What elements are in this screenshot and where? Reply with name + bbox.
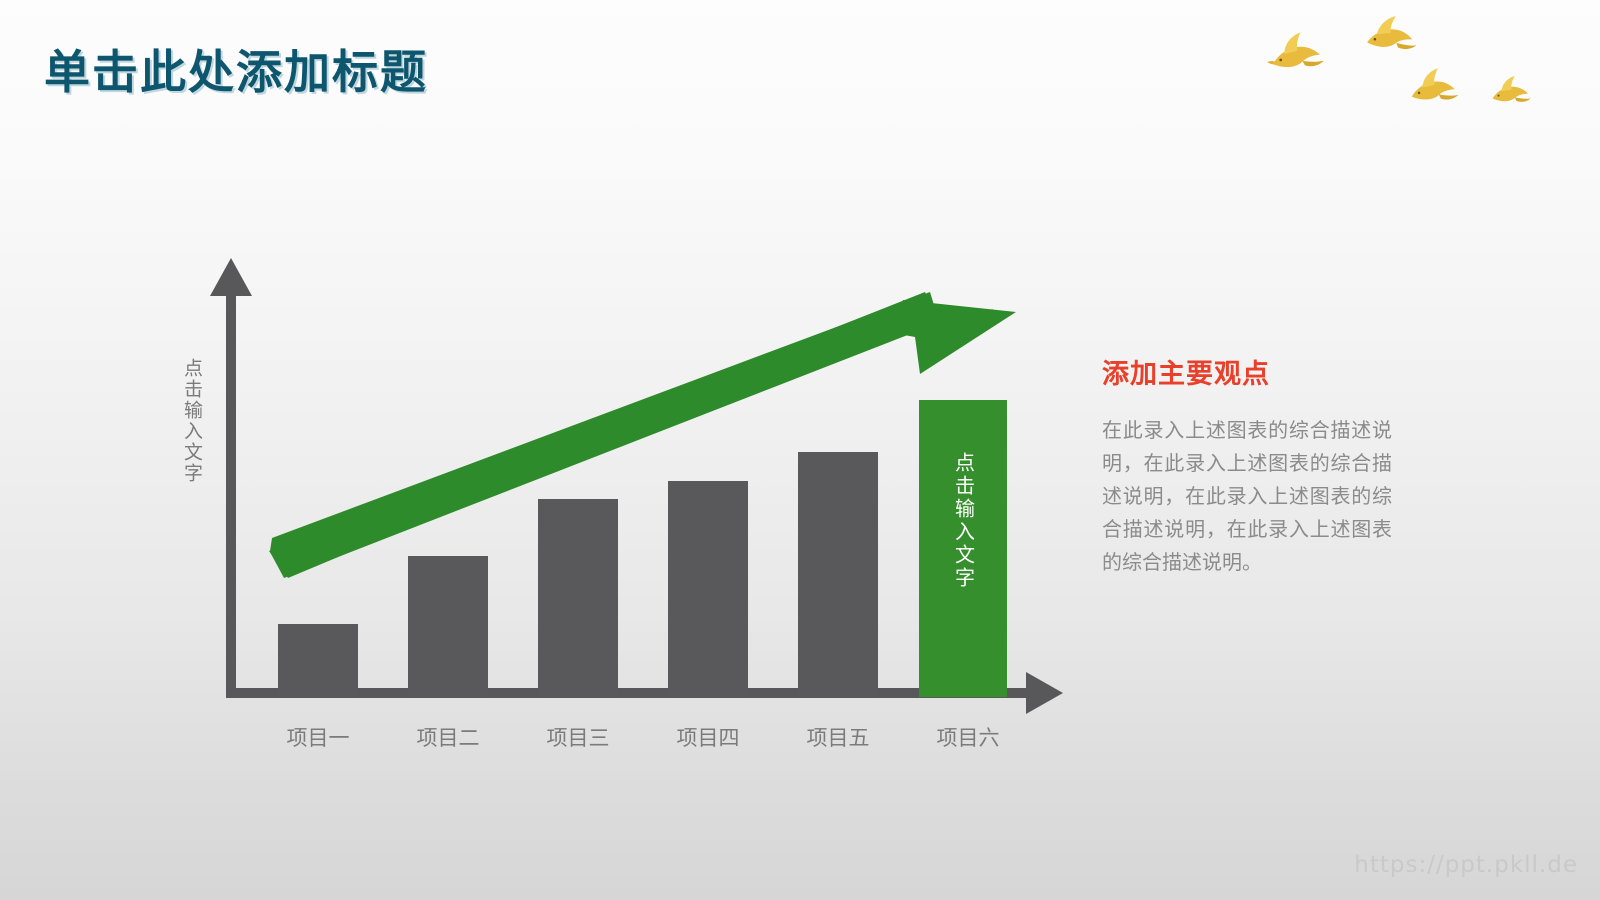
category-label-6: 项目六: [918, 722, 1018, 752]
category-label-2: 项目二: [398, 722, 498, 752]
bar-item-4[interactable]: [668, 481, 748, 697]
bar-item-2[interactable]: [408, 556, 488, 697]
slide-canvas: 单击此处添加标题: [0, 0, 1600, 900]
bird-icon-1: [1266, 30, 1328, 78]
panel-heading: 添加主要观点: [1102, 352, 1392, 391]
panel-body-text: 在此录入上述图表的综合描述说明，在此录入上述图表的综合描述说明，在此录入上述图表…: [1102, 415, 1392, 580]
category-label-4: 项目四: [658, 722, 758, 752]
bird-icon-2: [1362, 14, 1420, 60]
category-label-3: 项目三: [528, 722, 628, 752]
bar-item-3[interactable]: [538, 499, 618, 697]
bar-chart: 点击输入文字 点击输入文字 项目一 项目二 项目三 项目四 项目五 项目六: [0, 0, 1100, 800]
side-text-panel: 添加主要观点 在此录入上述图表的综合描述说明，在此录入上述图表的综合描述说明，在…: [1102, 352, 1392, 580]
category-label-5: 项目五: [788, 722, 888, 752]
bar-item-6-highlight[interactable]: 点击输入文字: [919, 400, 1007, 697]
bar-item-1[interactable]: [278, 624, 358, 697]
bird-icon-4: [1488, 74, 1534, 110]
bird-icon-3: [1406, 66, 1462, 110]
category-label-1: 项目一: [268, 722, 368, 752]
bar-highlight-label: 点击输入文字: [949, 452, 978, 590]
watermark-url: https://ppt.pkll.de: [1354, 852, 1578, 878]
bar-item-5[interactable]: [798, 452, 878, 697]
